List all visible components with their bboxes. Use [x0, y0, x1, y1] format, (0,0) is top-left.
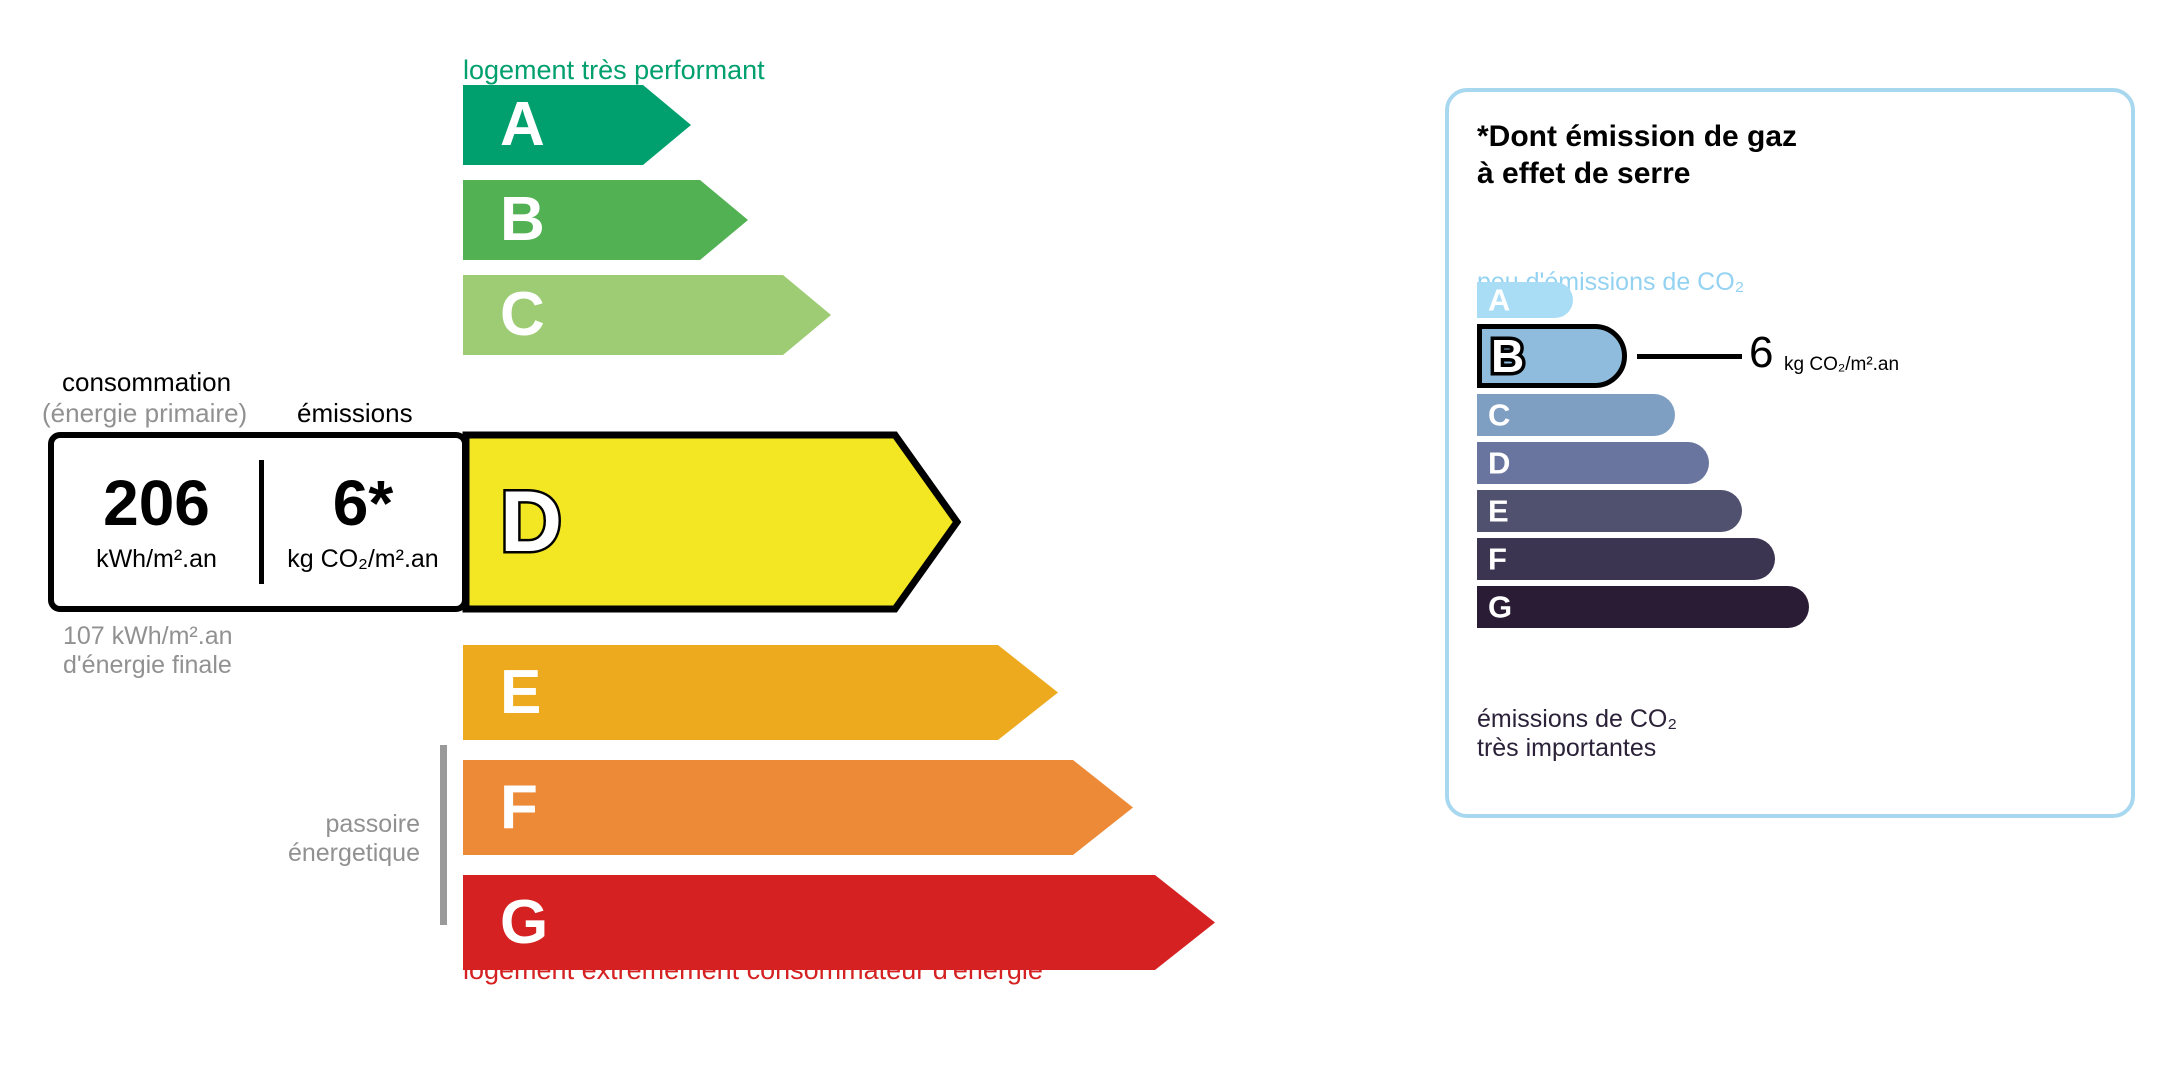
passoire-note: passoire énergetique [150, 810, 420, 869]
ges-bottom-line1: émissions de CO₂ [1477, 705, 1677, 734]
label-emissions: émissions [297, 398, 413, 429]
label-energie-primaire: (énergie primaire) [42, 398, 247, 429]
consumption-unit: kWh/m².an [96, 545, 217, 574]
energy-band-letter: B [500, 189, 545, 251]
ges-row-a: A [1477, 282, 1573, 318]
ges-row-b-active: B [1477, 324, 1627, 388]
ges-bar [1477, 442, 1709, 484]
energy-band-b: B [463, 180, 748, 260]
energy-band-letter: F [500, 777, 538, 839]
ges-callout-value: 6 [1749, 331, 1773, 375]
ges-callout-unit: kg CO₂/m².an [1784, 354, 1899, 376]
energy-band-e: E [463, 645, 1058, 740]
passoire-line2: énergetique [150, 839, 420, 868]
energy-band-letter: A [500, 94, 545, 156]
ges-row-letter: A [1488, 285, 1510, 316]
ges-row-letter: G [1488, 592, 1512, 623]
ges-callout-line [1637, 354, 1742, 359]
energy-bottom-note: logement extrêmement consommateur d'éner… [463, 955, 1043, 986]
dpe-label: logement très performant A B C [0, 0, 2170, 1079]
ges-row-letter: F [1488, 544, 1507, 575]
energy-band-letter: E [500, 662, 541, 724]
ges-row-f: F [1477, 538, 1775, 580]
energy-band-a: A [463, 85, 691, 165]
ges-row-letter: C [1488, 400, 1510, 431]
emissions-value: 6* [333, 471, 394, 535]
ges-title-line1: *Dont émission de gaz [1477, 119, 1797, 156]
ges-row-d: D [1477, 442, 1709, 484]
emissions-value-cell: 6* kg CO₂/m².an [264, 438, 462, 606]
ges-bar [1477, 586, 1809, 628]
energy-band-letter: G [500, 892, 548, 954]
final-energy-note: 107 kWh/m².an d'énergie finale [63, 622, 233, 681]
ges-bottom-line2: très importantes [1477, 734, 1677, 763]
ges-bar [1477, 490, 1742, 532]
emissions-unit: kg CO₂/m².an [287, 545, 438, 574]
final-energy-line2: d'énergie finale [63, 651, 233, 680]
value-box: 206 kWh/m².an 6* kg CO₂/m².an [48, 432, 468, 612]
ges-row-letter-active: B [1491, 333, 1524, 379]
ges-row-g: G [1477, 586, 1809, 628]
energy-band-letter-active: D [500, 479, 562, 565]
ges-row-letter: D [1488, 448, 1510, 479]
consumption-value: 206 [103, 471, 210, 535]
passoire-bracket [440, 745, 447, 925]
energy-top-note: logement très performant [463, 55, 765, 86]
ges-panel: *Dont émission de gaz à effet de serre p… [1445, 88, 2135, 818]
energy-band-f: F [463, 760, 1133, 855]
energy-band-letter: C [500, 284, 545, 346]
ges-title: *Dont émission de gaz à effet de serre [1477, 119, 1797, 192]
energy-band-d-active: D [463, 432, 963, 612]
ges-title-line2: à effet de serre [1477, 156, 1797, 193]
energy-performance-chart: logement très performant A B C [0, 0, 1400, 1079]
final-energy-line1: 107 kWh/m².an [63, 622, 233, 651]
label-consommation: consommation [62, 367, 231, 398]
passoire-line1: passoire [150, 810, 420, 839]
energy-band-c: C [463, 275, 831, 355]
ges-row-e: E [1477, 490, 1742, 532]
ges-bar [1477, 538, 1775, 580]
ges-row-c: C [1477, 394, 1675, 436]
ges-bottom-note: émissions de CO₂ très importantes [1477, 705, 1677, 763]
ges-row-letter: E [1488, 496, 1509, 527]
consumption-value-cell: 206 kWh/m².an [54, 438, 259, 606]
